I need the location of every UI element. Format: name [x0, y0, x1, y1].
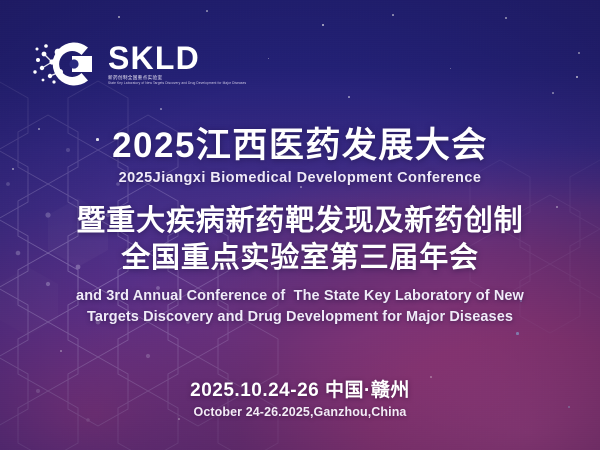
conference-poster: SKLD 新药创制全国重点实验室 State Key Laboratory of…	[0, 0, 600, 450]
headline-block: 2025江西医药发展大会 2025Jiangxi Biomedical Deve…	[0, 126, 600, 328]
title-cn-sub-line1: 暨重大疾病新药靶发现及新药创制	[0, 203, 600, 240]
date-venue-en: October 24-26.2025,Ganzhou,China	[0, 405, 600, 419]
title-cn-main: 2025江西医药发展大会	[0, 126, 600, 165]
skld-logo: SKLD 新药创制全国重点实验室 State Key Laboratory of…	[28, 32, 246, 96]
title-cn-sub-line2: 全国重点实验室第三届年会	[0, 240, 600, 277]
skld-molecular-c-icon	[28, 32, 100, 96]
logo-wordmark: SKLD	[108, 43, 246, 73]
title-en-sub: and 3rd Annual Conference of The State K…	[0, 286, 600, 328]
logo-subtitle-cn: 新药创制全国重点实验室	[108, 75, 246, 81]
date-venue-cn: 2025.10.24-26 中国·赣州	[0, 375, 600, 402]
title-en-main: 2025Jiangxi Biomedical Development Confe…	[0, 170, 600, 186]
date-venue-block: 2025.10.24-26 中国·赣州 October 24-26.2025,G…	[0, 375, 600, 419]
logo-subtitle-en: State Key Laboratory of New Targets Disc…	[108, 81, 246, 85]
